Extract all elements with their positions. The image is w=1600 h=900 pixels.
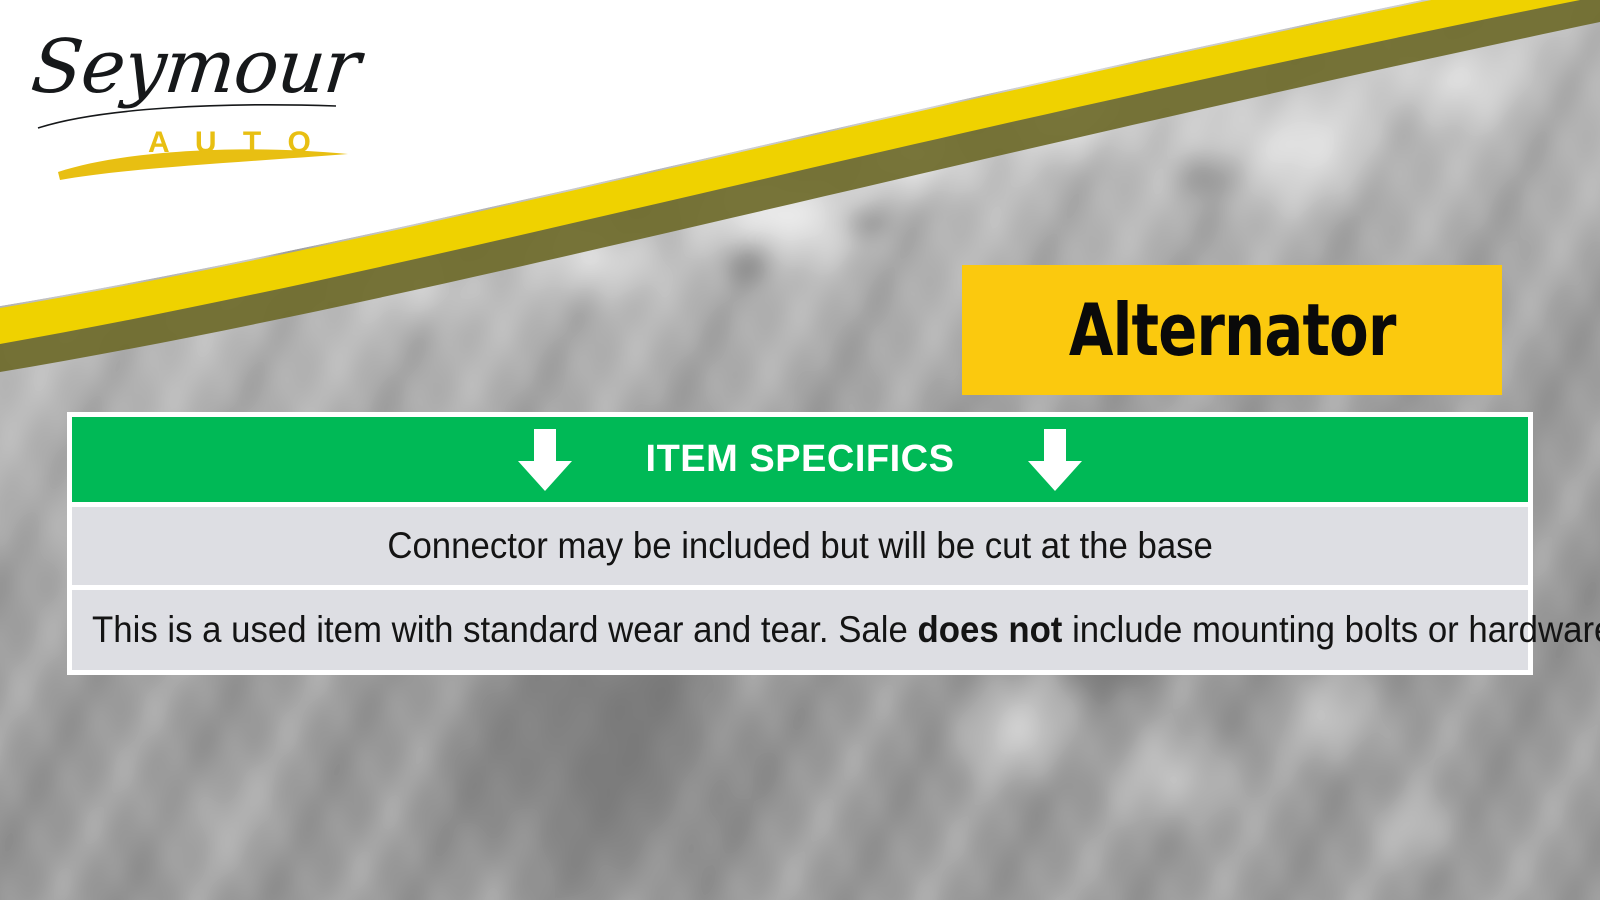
brand-subname: A U T O bbox=[148, 126, 320, 160]
item-specifics-header: ITEM SPECIFICS bbox=[72, 417, 1528, 502]
spec-row-condition: This is a used item with standard wear a… bbox=[72, 590, 1528, 670]
arrow-down-icon bbox=[1026, 427, 1084, 493]
item-title: Alternator bbox=[1069, 294, 1396, 366]
arrow-down-icon bbox=[516, 427, 574, 493]
brand-logo: Seymour A U T O bbox=[30, 22, 350, 172]
item-specifics-title: ITEM SPECIFICS bbox=[646, 438, 955, 481]
brand-name: Seymour bbox=[27, 24, 363, 110]
spec-row-connector: Connector may be included but will be cu… bbox=[72, 507, 1528, 585]
spec-condition-suffix: include mounting bolts or hardware. bbox=[1062, 609, 1600, 650]
spec-condition-emphasis: does not bbox=[917, 609, 1062, 650]
slide-canvas: Seymour A U T O Alternator ITEM SPECIFIC… bbox=[0, 0, 1600, 900]
item-specifics-panel: ITEM SPECIFICS Connector may be included… bbox=[67, 412, 1533, 675]
spec-condition-prefix: This is a used item with standard wear a… bbox=[92, 609, 917, 650]
spec-row-connector-text: Connector may be included but will be cu… bbox=[387, 525, 1213, 567]
spec-row-condition-text: This is a used item with standard wear a… bbox=[92, 609, 1600, 651]
item-title-badge: Alternator bbox=[962, 265, 1502, 395]
